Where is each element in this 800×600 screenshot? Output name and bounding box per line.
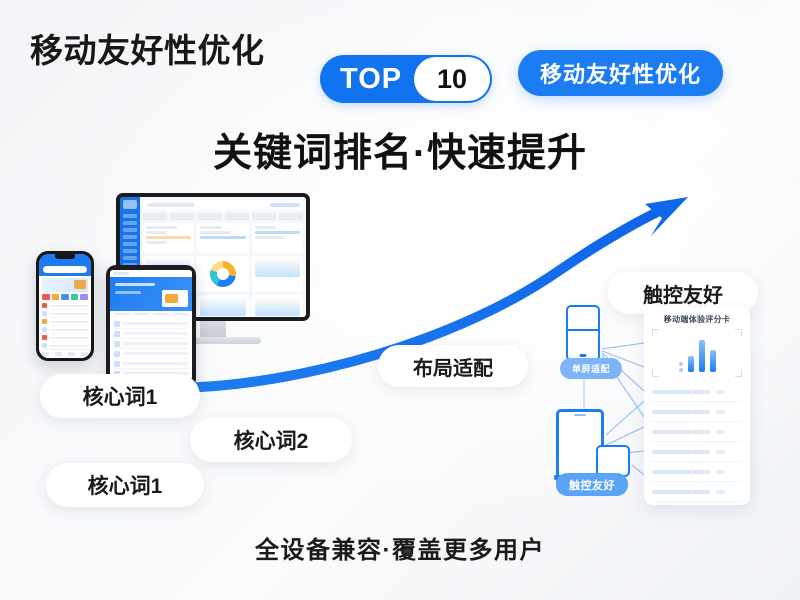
donut-chart bbox=[210, 261, 236, 287]
score-row bbox=[652, 402, 742, 422]
score-card-chart bbox=[652, 329, 742, 377]
score-card-title: 移动端体验评分卡 bbox=[652, 314, 742, 325]
poster-canvas: 移动友好性优化 TOP 10 移动友好性优化 关键词排名·快速提升 bbox=[0, 0, 800, 600]
dashboard-tabs bbox=[143, 213, 303, 220]
score-row bbox=[652, 462, 742, 482]
header-kicker: 移动友好性优化 bbox=[30, 24, 265, 72]
keyword-pill: 核心词1 bbox=[40, 374, 200, 418]
score-row bbox=[652, 442, 742, 462]
header-tag-pill: 移动友好性优化 bbox=[518, 50, 723, 96]
top-rank-badge: TOP 10 bbox=[320, 55, 492, 103]
score-card: 移动端体验评分卡 bbox=[644, 307, 750, 505]
top-badge-word: TOP bbox=[320, 63, 402, 96]
diagram-pill-single-screen: 单屏适配 bbox=[560, 358, 622, 379]
phone-mockup bbox=[36, 251, 94, 361]
keyword-pill: 核心词1 bbox=[46, 463, 204, 507]
tablet-mockup bbox=[106, 265, 196, 389]
score-row bbox=[652, 382, 742, 402]
score-card-rows bbox=[652, 382, 742, 502]
score-row bbox=[652, 422, 742, 442]
keyword-pill: 核心词2 bbox=[190, 418, 352, 462]
diagram-pill-touch-friendly: 触控友好 bbox=[556, 473, 628, 496]
score-row bbox=[652, 482, 742, 502]
page-title: 关键词排名·快速提升 bbox=[0, 122, 800, 178]
footer-caption: 全设备兼容·覆盖更多用户 bbox=[0, 530, 800, 565]
layout-adaptation-pill: 布局适配 bbox=[378, 345, 528, 387]
touch-diagram: 单屏适配 触控友好 移动端体验评分卡 bbox=[548, 305, 798, 515]
top-badge-number: 10 bbox=[414, 57, 490, 101]
dashboard-topbar bbox=[143, 200, 303, 210]
device-mockup-group bbox=[28, 193, 328, 393]
diagram-phone-small-icon bbox=[566, 305, 600, 361]
